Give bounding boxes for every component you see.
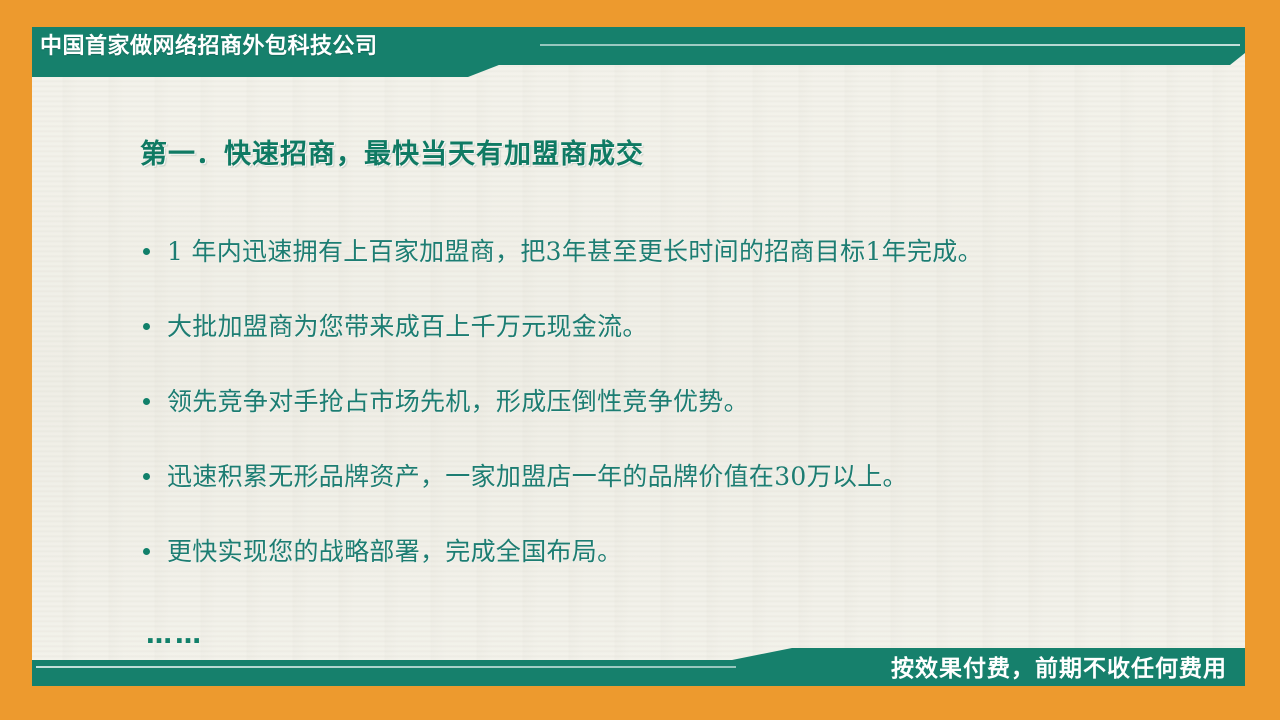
list-item-text: 大批加盟商为您带来成百上千万元现金流。 — [167, 307, 1213, 347]
bullet-dot-icon — [143, 548, 150, 555]
footer-slogan: 按效果付费，前期不收任何费用 — [32, 648, 1245, 686]
company-tagline: 中国首家做网络招商外包科技公司 — [40, 28, 378, 64]
bullet-dot-icon — [143, 323, 150, 330]
horizontal-rule-icon — [540, 44, 1240, 46]
continuation-ellipsis: …… — [146, 622, 204, 648]
bullet-list: 1 年内迅速拥有上百家加盟商，把3年甚至更长时间的招商目标1年完成。 大批加盟商… — [143, 232, 1213, 607]
list-item: 大批加盟商为您带来成百上千万元现金流。 — [143, 307, 1213, 382]
bullet-dot-icon — [143, 248, 150, 255]
list-item: 更快实现您的战略部署，完成全国布局。 — [143, 532, 1213, 607]
list-item-text: 领先竞争对手抢占市场先机，形成压倒性竞争优势。 — [167, 382, 1213, 422]
list-item-text: 更快实现您的战略部署，完成全国布局。 — [167, 532, 1213, 572]
page-title: 第一．快速招商，最快当天有加盟商成交 — [140, 132, 644, 171]
presentation-slide: 中国首家做网络招商外包科技公司 第一．快速招商，最快当天有加盟商成交 1 年内迅… — [0, 0, 1280, 720]
bullet-dot-icon — [143, 473, 150, 480]
bullet-dot-icon — [143, 398, 150, 405]
list-item-text: 1 年内迅速拥有上百家加盟商，把3年甚至更长时间的招商目标1年完成。 — [167, 232, 1213, 272]
list-item: 迅速积累无形品牌资产，一家加盟店一年的品牌价值在30万以上。 — [143, 457, 1213, 532]
list-item: 1 年内迅速拥有上百家加盟商，把3年甚至更长时间的招商目标1年完成。 — [143, 232, 1213, 307]
list-item: 领先竞争对手抢占市场先机，形成压倒性竞争优势。 — [143, 382, 1213, 457]
list-item-text: 迅速积累无形品牌资产，一家加盟店一年的品牌价值在30万以上。 — [167, 457, 1213, 497]
